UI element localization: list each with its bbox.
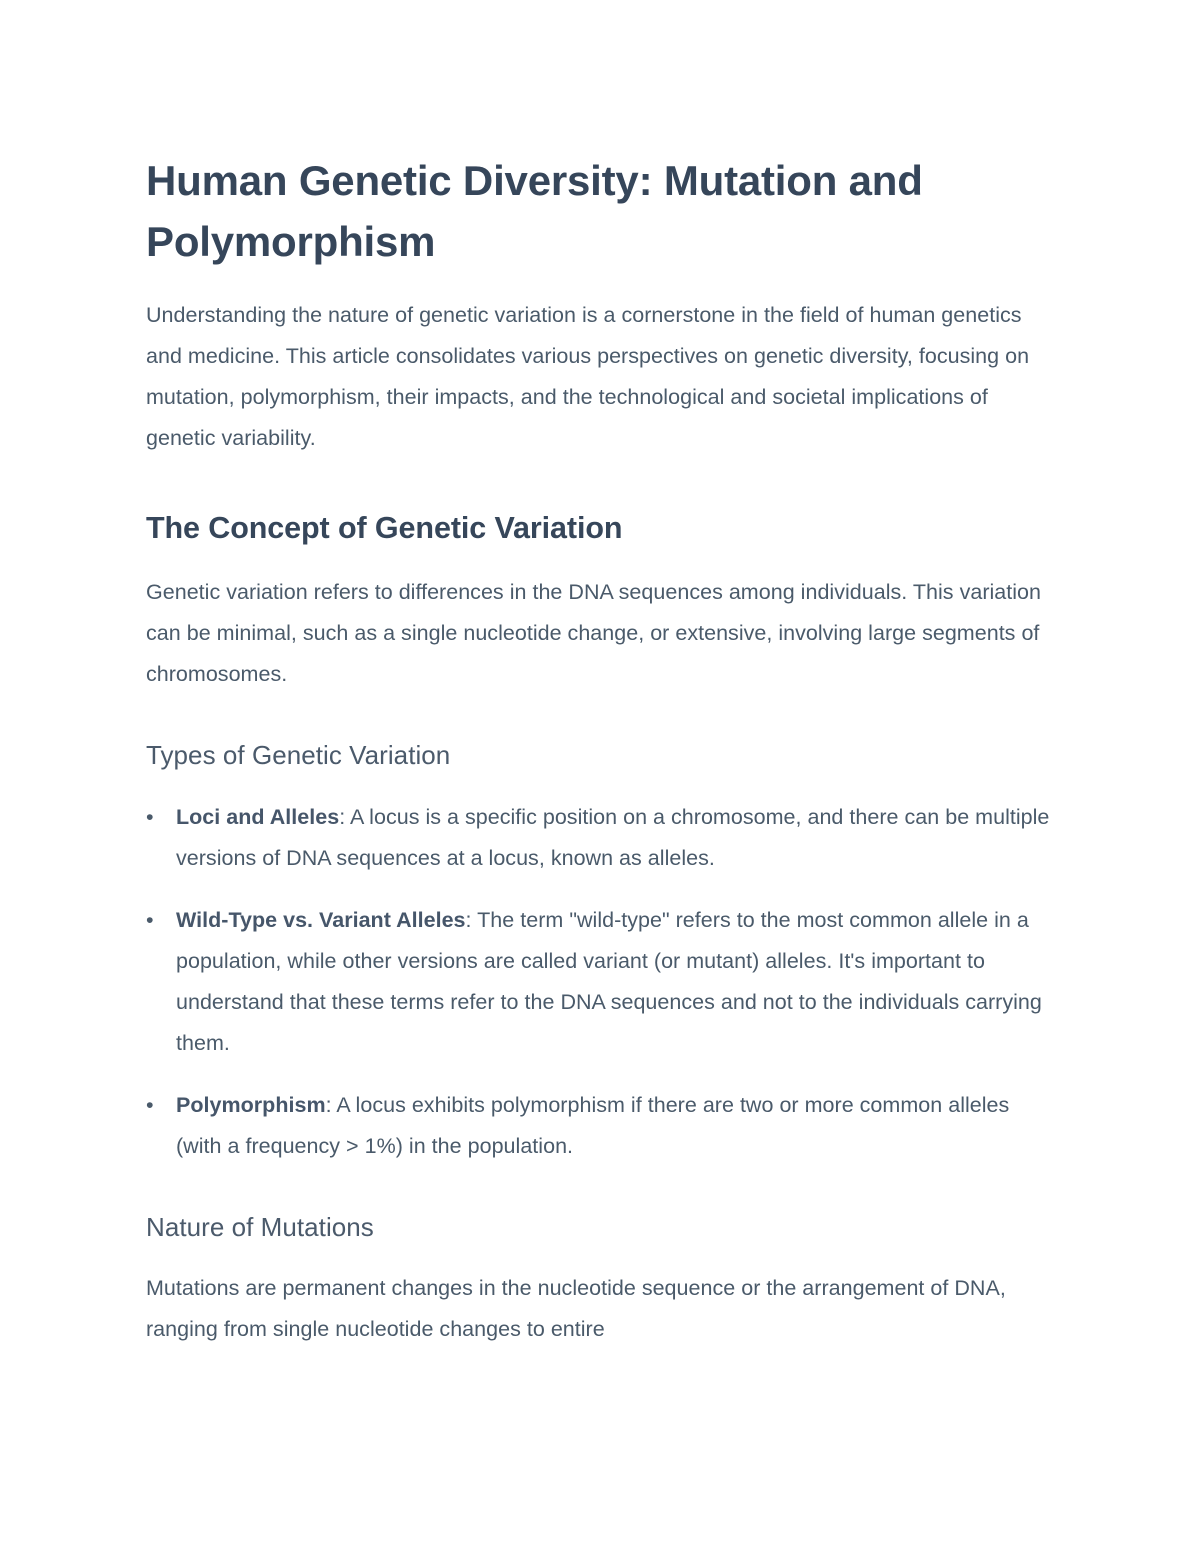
bullet-icon: • [146,1085,160,1126]
intro-paragraph: Understanding the nature of genetic vari… [146,295,1052,459]
subsection-paragraph-nature-of-mutations: Mutations are permanent changes in the n… [146,1268,1052,1350]
document-content: Human Genetic Diversity: Mutation and Po… [146,150,1052,1350]
list-item: • Polymorphism: A locus exhibits polymor… [146,1085,1052,1167]
list-item: • Loci and Alleles: A locus is a specifi… [146,797,1052,879]
types-of-genetic-variation-list: • Loci and Alleles: A locus is a specifi… [146,797,1052,1167]
subsection-heading-nature-of-mutations: Nature of Mutations [146,1209,1052,1245]
list-item: • Wild-Type vs. Variant Alleles: The ter… [146,900,1052,1064]
bullet-icon: • [146,900,160,941]
page-title: Human Genetic Diversity: Mutation and Po… [146,150,1052,272]
document-page: Human Genetic Diversity: Mutation and Po… [0,0,1200,1553]
list-item-lead: Wild-Type vs. Variant Alleles [176,908,466,932]
section-paragraph-genetic-variation: Genetic variation refers to differences … [146,572,1052,695]
subsection-heading-types-of-genetic-variation: Types of Genetic Variation [146,737,1052,773]
list-item-lead: Polymorphism [176,1093,326,1117]
section-heading-genetic-variation: The Concept of Genetic Variation [146,507,1052,549]
list-item-lead: Loci and Alleles [176,805,339,829]
bullet-icon: • [146,797,160,838]
